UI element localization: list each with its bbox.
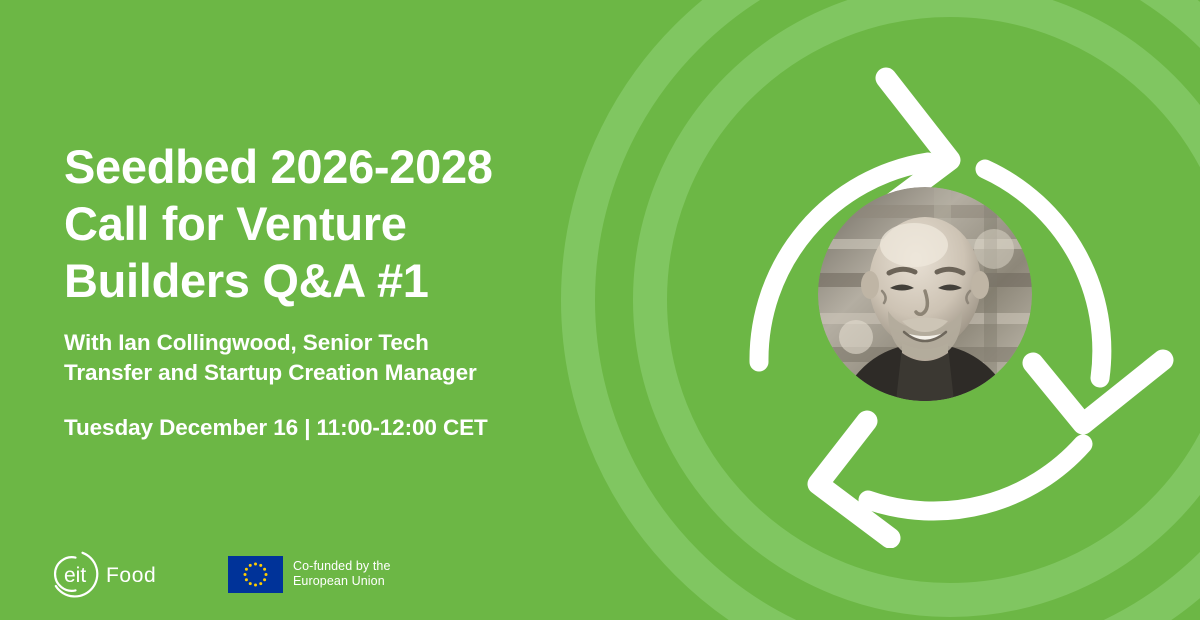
european-union-flag <box>228 556 283 593</box>
eit-mark-text: eit <box>64 564 86 587</box>
eit-food-wordmark: Food <box>106 564 156 587</box>
page-title: Seedbed 2026-2028 Call for Venture Build… <box>64 138 584 309</box>
eu-cofunded-badge: Co-funded by the European Union <box>228 556 391 593</box>
text-column: Seedbed 2026-2028 Call for Venture Build… <box>64 0 584 620</box>
speaker-subtitle: With Ian Collingwood, Senior Tech Transf… <box>64 328 564 388</box>
eit-food-logo: eit Food <box>42 546 170 602</box>
event-datetime: Tuesday December 16 | 11:00-12:00 CET <box>64 413 584 443</box>
event-banner: Seedbed 2026-2028 Call for Venture Build… <box>0 0 1200 620</box>
eu-cofunded-text: Co-funded by the European Union <box>293 559 391 590</box>
footer-logos: eit Food <box>42 546 391 602</box>
speaker-portrait <box>818 187 1032 401</box>
